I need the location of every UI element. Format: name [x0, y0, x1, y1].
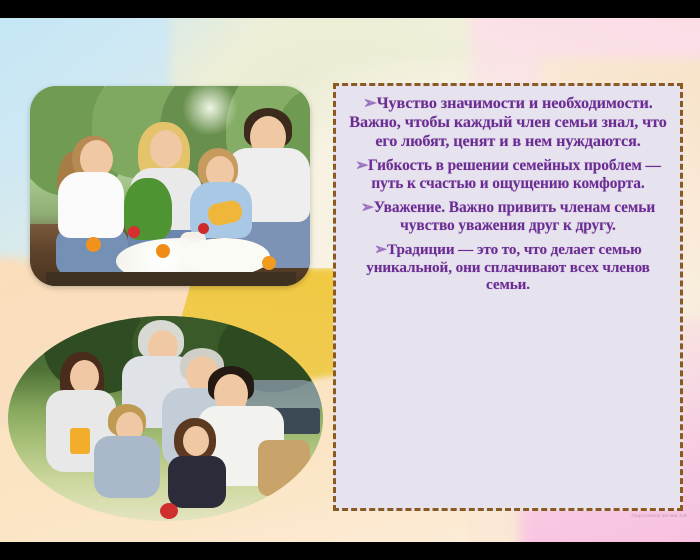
bullet-item-flexibility: ➢Гибкость в решении семейных проблем — п…: [346, 157, 670, 193]
apple: [160, 503, 178, 519]
family-gardening-photo: [30, 86, 310, 286]
girl-shirt: [58, 172, 124, 238]
bullet-item-significance: ➢Чувство значимости и необходимости. Важ…: [346, 94, 670, 151]
bullet-item-respect: ➢Уважение. Важно привить членам семьи чу…: [346, 199, 670, 235]
bullet-text: Уважение. Важно привить членам семьи чув…: [374, 199, 655, 234]
orange-flower: [262, 256, 276, 270]
white-flowers: [180, 238, 270, 276]
boy-shirt: [94, 436, 160, 498]
watermark-text: Подготовила Зотова З.В.: [631, 513, 688, 518]
letterbox-top: [0, 0, 700, 18]
bullet-text: Традиции — это то, что делает семью уник…: [366, 241, 650, 294]
seedling-tray: [46, 272, 296, 286]
bullet-text: Чувство значимости и необходимости. Важн…: [349, 94, 667, 150]
arrow-bullet-icon: ➢: [361, 199, 374, 216]
red-flower: [128, 226, 140, 238]
letterbox-bottom: [0, 542, 700, 560]
mother-head: [150, 130, 182, 168]
slide-canvas: ➢Чувство значимости и необходимости. Важ…: [0, 18, 700, 542]
sunlight-glow: [180, 86, 240, 134]
bullet-item-traditions: ➢Традиции — это то, что делает семью уни…: [346, 241, 670, 294]
arrow-bullet-icon: ➢: [355, 157, 368, 174]
orange-flower: [86, 237, 101, 252]
slide-root: ➢Чувство значимости и необходимости. Важ…: [0, 0, 700, 560]
juice-glass: [70, 428, 90, 454]
wicker-chair: [258, 440, 310, 496]
orange-flower: [156, 244, 170, 258]
girl-dress: [168, 456, 226, 508]
arrow-bullet-icon: ➢: [363, 94, 376, 112]
mother-head: [70, 360, 99, 394]
family-picnic-photo: [8, 316, 323, 521]
family-values-textbox: ➢Чувство значимости и необходимости. Важ…: [333, 83, 683, 511]
red-flower: [198, 223, 209, 234]
girl-head: [183, 426, 209, 456]
arrow-bullet-icon: ➢: [374, 241, 387, 258]
bullet-text: Гибкость в решении семейных проблем — пу…: [368, 157, 661, 192]
